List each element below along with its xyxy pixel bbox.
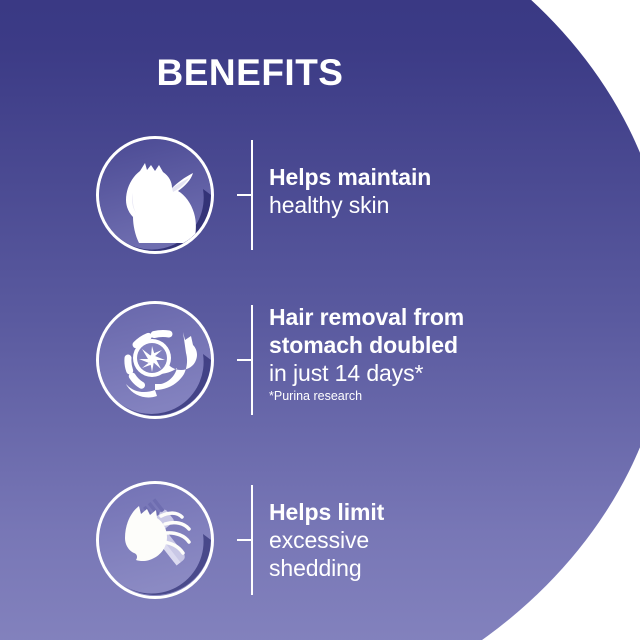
curled-cat-hairball-icon (99, 304, 211, 416)
benefit-headline: Hair removal from (269, 303, 599, 331)
page-title: BENEFITS (0, 52, 500, 94)
benefit-subline-line2: shedding (269, 554, 599, 582)
benefit-divider-1 (251, 140, 253, 250)
benefit-divider-2 (251, 305, 253, 415)
benefit-headline: Helps limit (269, 498, 599, 526)
benefit-icon-1 (96, 136, 214, 254)
divider-tick (237, 539, 251, 541)
benefit-text-1: Helps maintain healthy skin (269, 163, 599, 219)
benefit-text-3: Helps limit excessive shedding (269, 498, 599, 582)
benefit-subline: in just 14 days* (269, 359, 599, 387)
benefit-icon-2 (96, 301, 214, 419)
benefit-headline: Helps maintain (269, 163, 599, 191)
divider-tick (237, 194, 251, 196)
benefit-icon-3 (96, 481, 214, 599)
cat-head-comb-icon (99, 484, 211, 596)
benefit-subline: excessive (269, 526, 599, 554)
cat-silhouette-icon (99, 139, 211, 251)
benefit-text-2: Hair removal from stomach doubled in jus… (269, 303, 599, 405)
benefit-row-1: Helps maintain healthy skin (0, 130, 640, 260)
benefit-subline: healthy skin (269, 191, 599, 219)
benefit-row-2: Hair removal from stomach doubled in jus… (0, 295, 640, 425)
divider-tick (237, 359, 251, 361)
benefit-headline-line2: stomach doubled (269, 331, 599, 359)
benefit-row-3: Helps limit excessive shedding (0, 475, 640, 605)
benefit-divider-3 (251, 485, 253, 595)
poster-content: BENEFITS (0, 0, 640, 640)
benefits-poster: BENEFITS (0, 0, 640, 640)
benefit-footnote: *Purina research (269, 388, 599, 405)
